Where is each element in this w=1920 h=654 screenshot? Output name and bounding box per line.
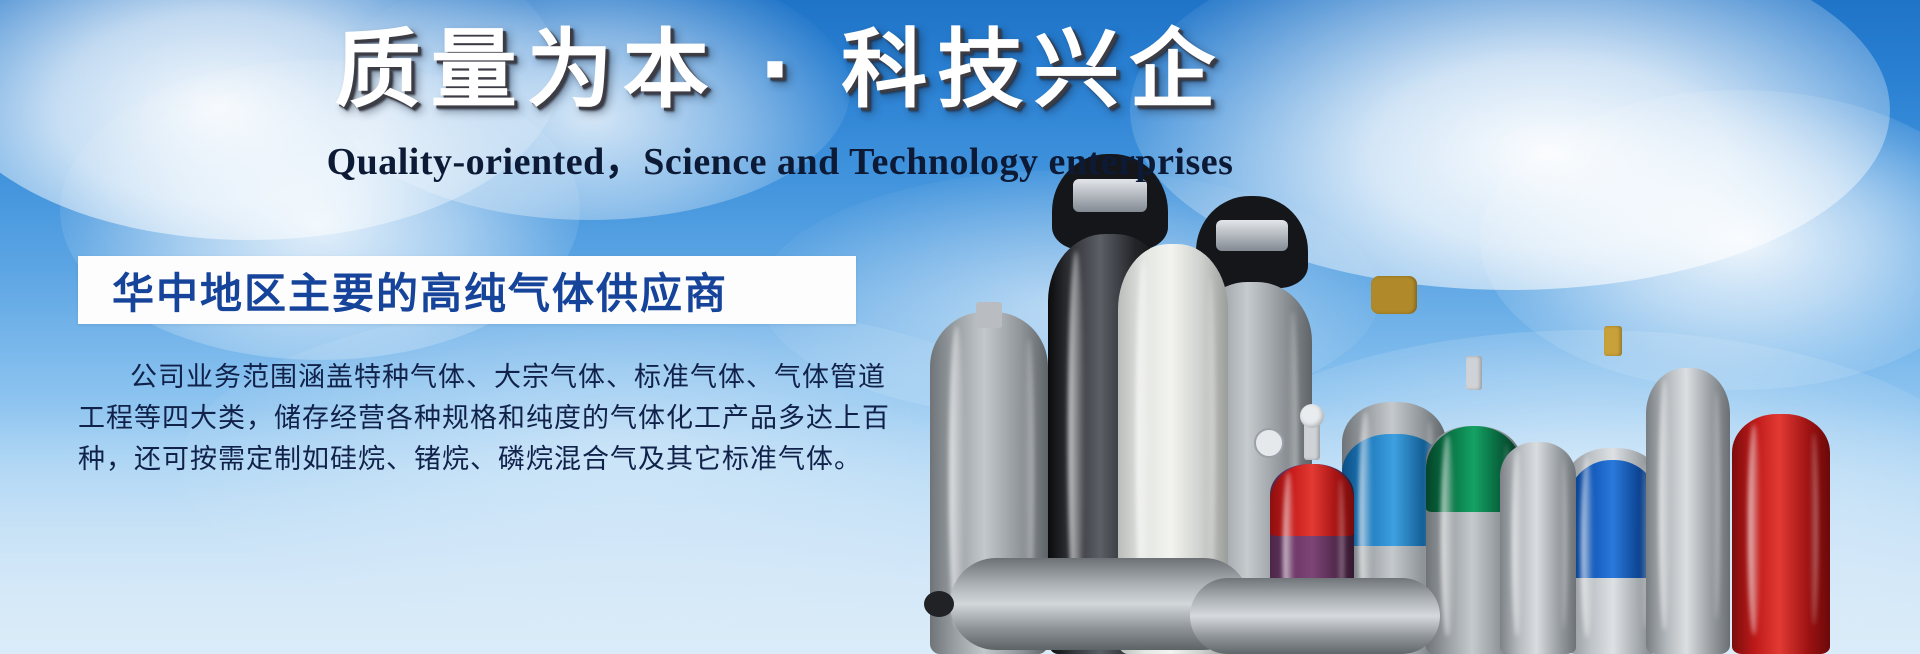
page-subtitle: Quality-oriented，Science and Technology … <box>0 130 1560 185</box>
aluminium-tall-cylinder <box>1646 368 1730 654</box>
page-title: 质量为本 · 科技兴企 <box>0 22 1560 118</box>
description-paragraph: 公司业务范围涵盖特种气体、大宗气体、标准气体、气体管道 工程等四大类，储存经营各… <box>78 357 868 480</box>
paragraph-line: 公司业务范围涵盖特种气体、大宗气体、标准气体、气体管道 <box>78 357 868 398</box>
promotional-banner: 质量为本 · 科技兴企 Quality-oriented，Science and… <box>0 0 1920 654</box>
cylinder-valve <box>924 591 954 617</box>
paragraph-line: 工程等四大类，储存经营各种规格和纯度的气体化工产品多达上百 <box>78 398 868 439</box>
paragraph-line: 种，还可按需定制如硅烷、锗烷、磷烷混合气及其它标准气体。 <box>78 439 868 480</box>
small-aluminium-cylinder <box>1500 442 1576 654</box>
red-cylinder <box>1732 414 1830 654</box>
slogan-box: 华中地区主要的高纯气体供应商 <box>78 256 856 324</box>
slogan-text: 华中地区主要的高纯气体供应商 <box>78 260 728 321</box>
lying-cylinder-small <box>1190 578 1440 654</box>
pressure-gauge-icon <box>1254 428 1284 458</box>
